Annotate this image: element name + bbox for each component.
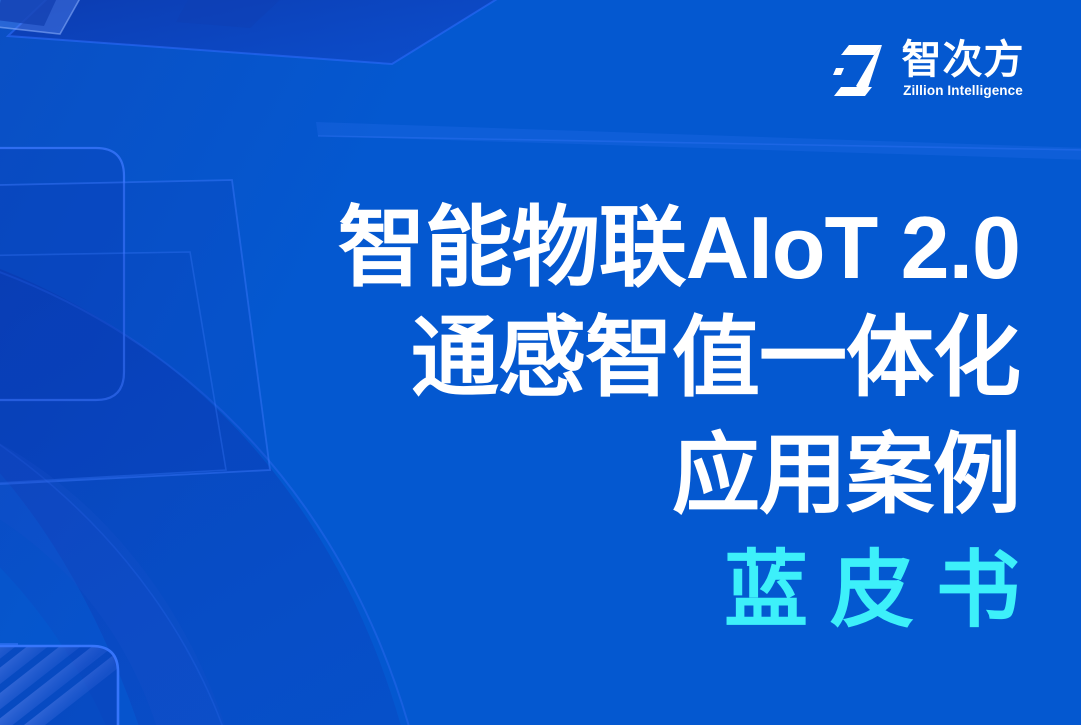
brand-name-cn: 智次方 <box>894 38 1032 82</box>
brand-wordmark: 智次方 Zillion Intelligence <box>894 38 1032 100</box>
headline-line-1: 智能物联AIoT 2.0 <box>120 196 1020 300</box>
headline-line-4-text: 蓝皮书 <box>724 534 1042 646</box>
zillion-z-logo-icon <box>832 42 894 98</box>
headline-line-4-subtitle: 蓝皮书 <box>120 534 1020 646</box>
headline-line-3: 应用案例 <box>120 416 1020 534</box>
headline-line-2: 通感智值一体化 <box>120 300 1020 416</box>
poster-headline: 智能物联AIoT 2.0 通感智值一体化 应用案例 蓝皮书 <box>120 196 1020 646</box>
poster-canvas: 智次方 Zillion Intelligence 智能物联AIoT 2.0 通感… <box>0 0 1081 725</box>
brand-name-en: Zillion Intelligence <box>894 82 1032 100</box>
brand-lockup: 智次方 Zillion Intelligence <box>832 38 1032 110</box>
